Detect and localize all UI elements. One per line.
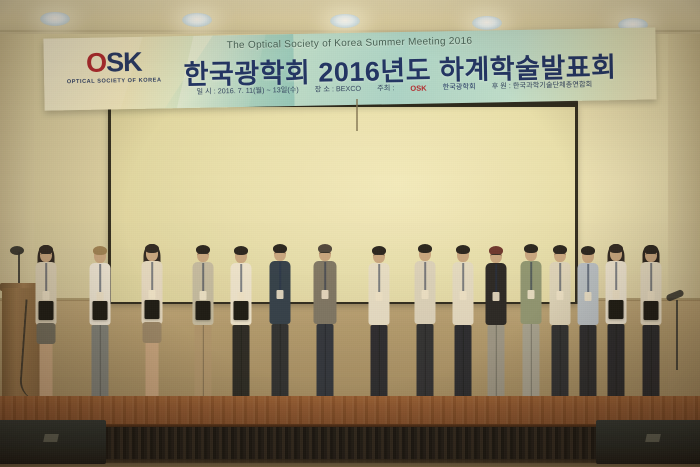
glasses [491,254,502,258]
glasses [41,253,52,257]
award-certificate [609,300,624,319]
stage-monitor-left [0,420,106,464]
glasses [320,252,331,256]
person [263,244,297,402]
glasses [374,254,385,258]
hair [524,244,538,253]
name-badge [613,290,620,299]
lanyard [240,264,242,292]
name-badge [322,290,329,299]
name-badge [376,292,383,301]
banner-support-rod [356,99,358,131]
leg-gap [559,325,560,406]
legs [195,325,212,406]
lanyard [378,264,380,292]
legs [92,325,109,406]
name-badge [43,291,50,300]
leg-gap [587,325,588,406]
person [362,246,396,402]
name-badge [648,291,655,300]
leg-gap [378,325,379,406]
glasses [198,253,209,257]
ceiling-downlight [40,12,70,26]
award-certificate [39,301,54,320]
skirt [37,323,56,344]
name-badge [422,290,429,299]
legs [523,324,540,406]
ceiling-downlight [182,13,212,27]
person [446,245,480,402]
name-badge [277,290,284,299]
person [634,245,668,402]
hair [93,246,107,255]
lanyard [99,264,101,292]
person [29,245,63,402]
legs [417,324,434,406]
legs [233,325,250,406]
podium-microphone-stand [18,252,20,286]
glasses [646,253,657,257]
lanyard [45,263,47,291]
name-badge [528,290,535,299]
stage-monitor-right [596,420,700,464]
name-badge [200,291,207,300]
hair [581,246,595,255]
conference-group-photo: OSK OPTICAL SOCIETY OF KOREA The Optical… [0,0,700,467]
person [408,244,442,402]
banner-place: 장 소 : BEXCO [315,84,362,95]
lanyard [495,264,497,292]
leg-gap [424,324,425,406]
ceiling-downlight [330,14,360,28]
right-microphone-stand [676,300,678,370]
hair [418,244,432,253]
award-certificate [145,300,160,319]
skirt [143,322,162,343]
banner-sponsor: 후 원 : 한국과학기술단체총연합회 [492,80,593,92]
person [83,246,117,402]
lanyard [559,263,561,291]
award-certificate [196,301,211,320]
hair [234,246,248,255]
name-badge [557,291,564,300]
banner-date: 일 시 : 2016. 7. 11(월) ~ 13일(수) [196,85,298,97]
name-badge [97,292,104,301]
lanyard [324,262,326,290]
leg-gap [99,325,100,406]
legs [317,324,334,406]
glasses [555,253,566,257]
leg-gap [240,325,241,406]
podium-microphone-head [10,246,24,255]
ceiling-downlight [472,16,502,30]
lanyard [151,262,153,290]
lanyard [650,263,652,291]
lanyard [279,262,281,290]
lanyard [615,262,617,290]
leg-gap [462,325,463,406]
hair [145,244,159,253]
legs [272,324,289,406]
name-badge [585,292,592,301]
legs [643,325,660,406]
person [186,245,220,402]
person [479,246,513,402]
name-badge [149,290,156,299]
person [308,244,342,402]
person [224,246,258,402]
legs [488,325,505,406]
hair [456,245,470,254]
leg-gap [530,324,531,406]
speaker-badge [645,434,661,442]
legs [608,324,625,406]
award-certificate [93,301,108,320]
name-badge [238,292,245,301]
leg-gap [615,324,616,406]
hair [609,244,623,253]
legs [552,325,569,406]
leg-gap [324,324,325,406]
award-certificate [234,301,249,320]
name-badge [460,291,467,300]
leg-gap [279,324,280,406]
banner-host-label: 주최 : [377,83,394,93]
lanyard [202,263,204,291]
speaker-badge [43,434,59,442]
lanyard [462,263,464,291]
event-banner: OSK OPTICAL SOCIETY OF KOREA The Optical… [43,27,656,110]
legs [580,325,597,406]
leg-gap [495,325,496,406]
banner-host-name: 한국광학회 [442,82,475,93]
person [135,244,169,402]
banner-host-logo: OSK [410,83,426,92]
glasses [275,252,286,256]
leg-gap [650,325,651,406]
person [599,244,633,402]
lanyard [530,262,532,290]
name-badge [493,292,500,301]
lanyard [587,264,589,292]
award-certificate [644,301,659,320]
legs [371,325,388,406]
lanyard [424,262,426,290]
legs [455,325,472,406]
leg-gap [202,325,203,406]
